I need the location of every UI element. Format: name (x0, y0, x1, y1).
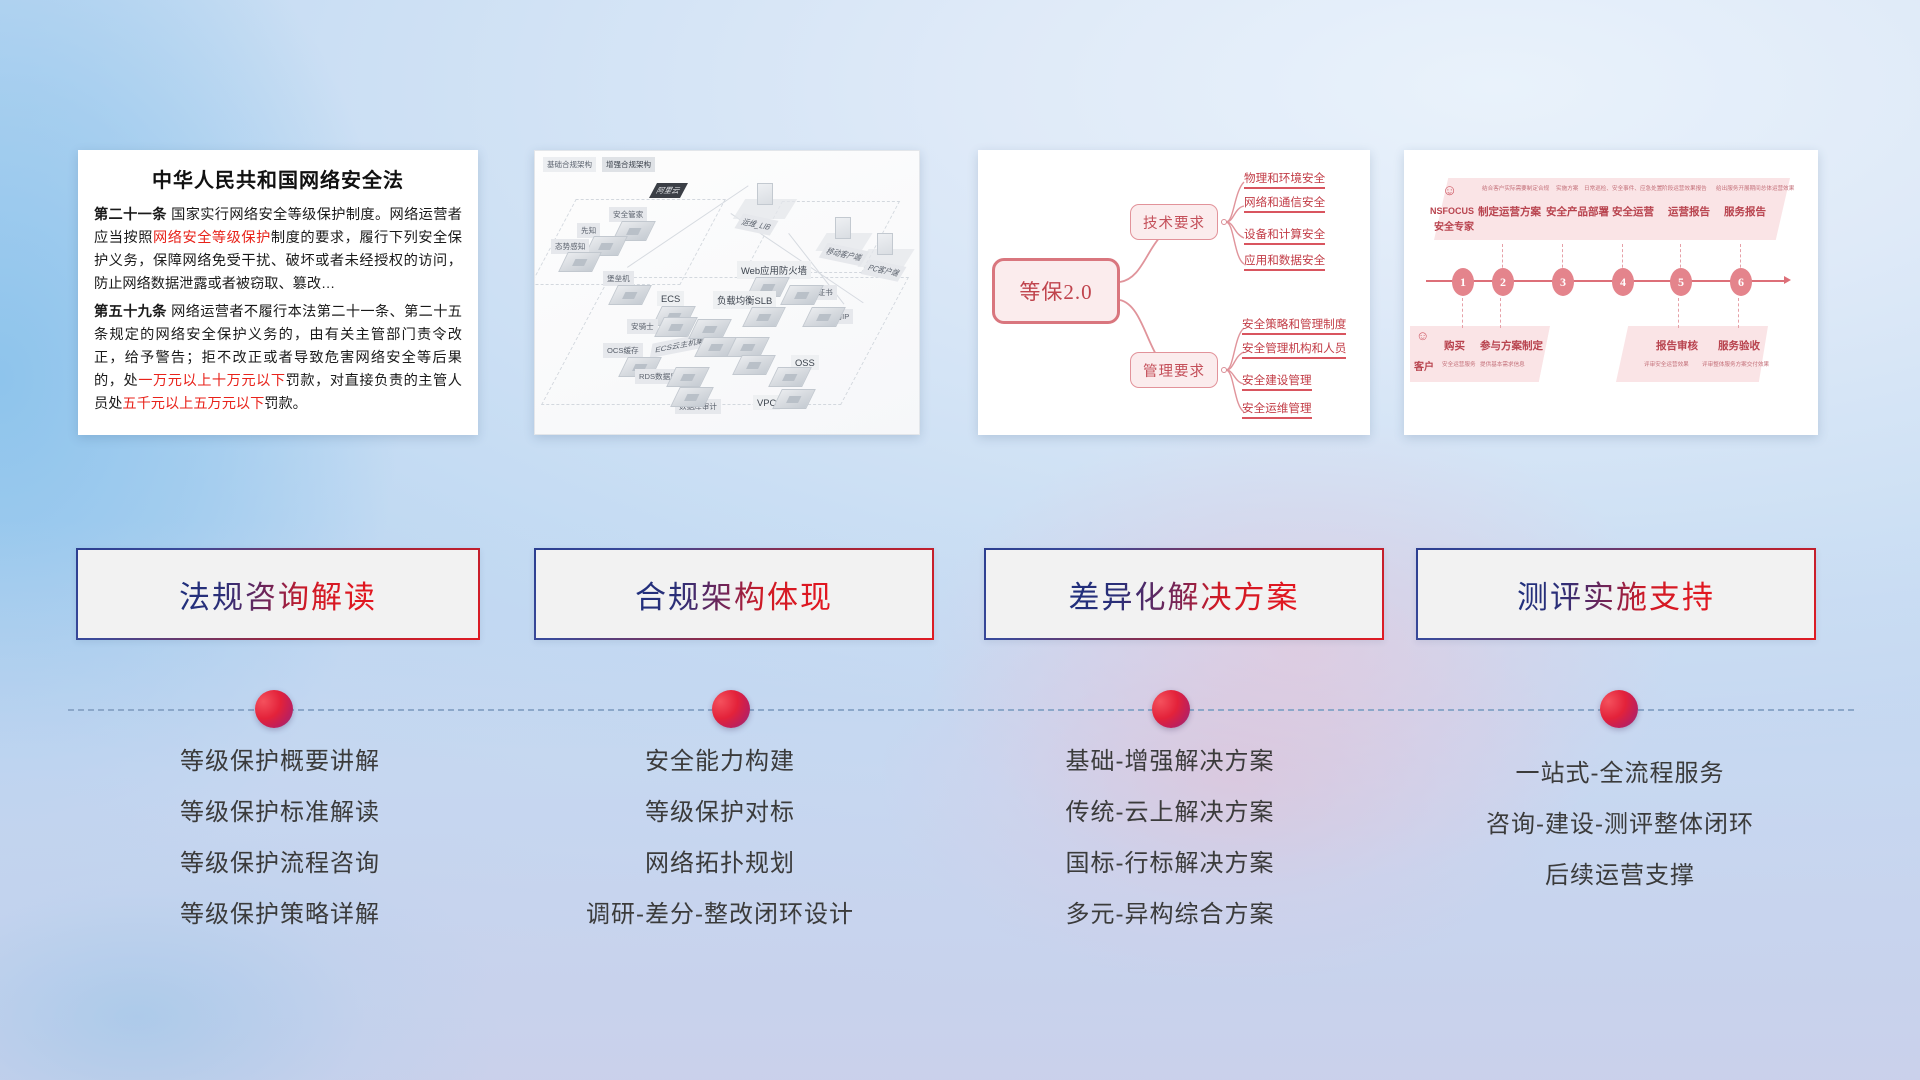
connector-customer-4 (1738, 298, 1739, 328)
list-item: 等级保护流程咨询 (60, 852, 500, 876)
nsfocus-customer-role: 客户 (1414, 358, 1434, 373)
step-5-label: 运营报告 (1668, 204, 1710, 219)
arch-server-pc (877, 233, 893, 255)
list-item: 安全能力构建 (500, 750, 940, 774)
customer-step-2-label: 参与方案制定 (1480, 338, 1543, 353)
mindmap-branch-technical: 技术要求 (1130, 204, 1218, 240)
law-article-59-highlight-2: 五千元以上五万元以下 (122, 396, 264, 412)
law-article-59-highlight-1: 一万元以上十万元以下 (138, 373, 285, 389)
step-2-sub: 结合客户实际需要制定合规 (1482, 184, 1549, 192)
section-items-column-3: 基础-增强解决方案 传统-云上解决方案 国标-行标解决方案 多元-异构综合方案 (950, 750, 1390, 954)
timeline-dashed-line (68, 709, 1854, 711)
timeline-marker-3[interactable] (1152, 690, 1190, 728)
list-item: 基础-增强解决方案 (950, 750, 1390, 774)
connector-customer-2 (1500, 298, 1501, 328)
section-items-row: 等级保护概要讲解 等级保护标准解读 等级保护流程咨询 等级保护策略详解 安全能力… (0, 750, 1920, 980)
timeline-node-6[interactable]: 6 (1730, 268, 1752, 296)
customer-step-4-label: 服务验收 (1718, 338, 1760, 353)
law-card-body: 中华人民共和国网络安全法 第二十一条 国家实行网络安全等级保护制度。网络运营者应… (78, 150, 478, 429)
timeline-node-1[interactable]: 1 (1452, 268, 1474, 296)
section-title-box-3[interactable]: 差异化解决方案 (984, 548, 1384, 640)
customer-step-1-sub: 安全运营服务 (1442, 360, 1476, 368)
section-title-box-2[interactable]: 合规架构体现 (534, 548, 934, 640)
mindmap-leaf-device: 设备和计算安全 (1244, 228, 1325, 245)
arch-node-security-butler: 安全管家 (609, 207, 647, 222)
timeline-node-4[interactable]: 4 (1612, 268, 1634, 296)
list-item: 等级保护对标 (500, 801, 940, 825)
arch-server-mobile (835, 217, 851, 239)
step-4-label: 安全运营 (1612, 204, 1654, 219)
mindmap-leaf-network: 网络和通信安全 (1244, 196, 1325, 213)
customer-step-3-label: 报告审核 (1656, 338, 1698, 353)
mindmap-leaf-physical: 物理和环境安全 (1244, 172, 1325, 189)
nsfocus-timeline-diagram: ☺ NSFOCUS 安全专家 结合客户实际需要制定合规 制定运营方案 实施方案 … (1404, 150, 1818, 435)
timeline-node-3[interactable]: 3 (1552, 268, 1574, 296)
law-card[interactable]: 中华人民共和国网络安全法 第二十一条 国家实行网络安全等级保护制度。网络运营者应… (78, 150, 478, 435)
arch-tab-basic[interactable]: 基础合规架构 (543, 157, 596, 172)
mindmap-leaf-org: 安全管理机构和人员 (1242, 342, 1346, 359)
list-item: 等级保护标准解读 (60, 801, 500, 825)
law-article-21-highlight: 网络安全等级保护 (153, 230, 271, 246)
step-6-label: 服务报告 (1724, 204, 1766, 219)
mindmap-collapse-dot-technical[interactable] (1221, 219, 1227, 225)
nsfocus-customer-banner-left (1410, 326, 1550, 382)
architecture-diagram: 基础合规架构 增强合规架构 阿里云 安全管家 先知 态势感知 (535, 151, 919, 434)
section-items-column-1: 等级保护概要讲解 等级保护标准解读 等级保护流程咨询 等级保护策略详解 (60, 750, 500, 954)
timeline-axis-arrow (1784, 276, 1791, 284)
step-3-label: 安全产品部署 (1546, 204, 1609, 219)
law-card-title: 中华人民共和国网络安全法 (94, 164, 462, 193)
nsfocus-expert-name: NSFOCUS (1430, 206, 1474, 216)
section-items-column-4: 一站式-全流程服务 咨询-建设-测评整体闭环 后续运营支撑 (1400, 750, 1840, 915)
customer-step-3-sub: 评审安全运营效果 (1644, 360, 1689, 368)
list-item: 网络拓扑规划 (500, 852, 940, 876)
law-article-59: 第五十九条 网络运营者不履行本法第二十一条、第二十五条规定的网络安全保护义务的，… (94, 301, 462, 416)
timeline-marker-2[interactable] (712, 690, 750, 728)
expert-person-icon: ☺ (1442, 182, 1457, 199)
arch-node-anqishi: 安骑士 (627, 319, 658, 334)
customer-step-2-sub: 提供基本需求信息 (1480, 360, 1525, 368)
arch-node-ocs: OCS缓存 (603, 343, 643, 358)
law-article-59-text-3: 罚款。 (264, 396, 307, 412)
mindmap-diagram: 等保2.0 技术要求 物理和环境安全 网络和通信安全 设备和计算安全 应用和数据… (978, 150, 1370, 435)
arch-server-ops (757, 183, 773, 205)
thumbnail-card-row: 中华人民共和国网络安全法 第二十一条 国家实行网络安全等级保护制度。网络运营者应… (0, 150, 1920, 450)
step-4-sub: 日常巡检、安全事件、应急处置 (1584, 184, 1662, 192)
list-item: 咨询-建设-测评整体闭环 (1400, 813, 1840, 837)
mindmap-branch-management: 管理要求 (1130, 352, 1218, 388)
mindmap-leaf-app-data: 应用和数据安全 (1244, 254, 1325, 271)
mindmap-leaf-policy: 安全策略和管理制度 (1242, 318, 1346, 335)
step-2-label: 制定运营方案 (1478, 204, 1541, 219)
section-title-1: 法规咨询解读 (179, 572, 377, 617)
nsfocus-service-card[interactable]: ☺ NSFOCUS 安全专家 结合客户实际需要制定合规 制定运营方案 实施方案 … (1404, 150, 1818, 435)
arch-node-aliyun: 阿里云 (649, 183, 688, 198)
list-item: 等级保护策略详解 (60, 903, 500, 927)
mindmap-card[interactable]: 等保2.0 技术要求 物理和环境安全 网络和通信安全 设备和计算安全 应用和数据… (978, 150, 1370, 435)
nsfocus-customer-banner-right (1616, 326, 1768, 382)
timeline-node-2[interactable]: 2 (1492, 268, 1514, 296)
step-3-sub: 实施方案 (1556, 184, 1578, 192)
connector-customer-1 (1462, 298, 1463, 328)
law-article-21: 第二十一条 国家实行网络安全等级保护制度。网络运营者应当按照网络安全等级保护制度… (94, 204, 462, 296)
mindmap-root: 等保2.0 (992, 258, 1120, 324)
mindmap-collapse-dot-management[interactable] (1221, 367, 1227, 373)
arch-node-bastion: 堡垒机 (603, 271, 634, 286)
architecture-tabs: 基础合规架构 增强合规架构 (543, 157, 655, 172)
list-item: 调研-差分-整改闭环设计 (500, 903, 940, 927)
slide-stage: 中华人民共和国网络安全法 第二十一条 国家实行网络安全等级保护制度。网络运营者应… (0, 0, 1920, 1080)
mindmap-leaf-ops: 安全运维管理 (1242, 402, 1312, 419)
section-title-row: 法规咨询解读 合规架构体现 差异化解决方案 测评实施支持 (0, 548, 1920, 640)
mindmap-leaf-build: 安全建设管理 (1242, 374, 1312, 391)
section-title-box-4[interactable]: 测评实施支持 (1416, 548, 1816, 640)
section-title-2: 合规架构体现 (635, 572, 833, 617)
section-title-3: 差异化解决方案 (1069, 572, 1300, 617)
customer-step-4-sub: 评审整体服务方案交付效果 (1702, 360, 1769, 368)
timeline-marker-4[interactable] (1600, 690, 1638, 728)
connector-customer-3 (1678, 298, 1679, 328)
timeline-node-5[interactable]: 5 (1670, 268, 1692, 296)
list-item: 一站式-全流程服务 (1400, 762, 1840, 786)
list-item: 后续运营支撑 (1400, 864, 1840, 888)
architecture-card[interactable]: 基础合规架构 增强合规架构 阿里云 安全管家 先知 态势感知 (534, 150, 920, 435)
section-items-column-2: 安全能力构建 等级保护对标 网络拓扑规划 调研-差分-整改闭环设计 (500, 750, 940, 954)
timeline-marker-1[interactable] (255, 690, 293, 728)
arch-node-ecs: ECS (657, 291, 684, 306)
list-item: 国标-行标解决方案 (950, 852, 1390, 876)
customer-person-icon: ☺ (1416, 328, 1429, 343)
customer-step-1-label: 购买 (1444, 338, 1465, 353)
section-title-box-1[interactable]: 法规咨询解读 (76, 548, 480, 640)
step-5-sub: 阶段运营效果报告 (1662, 184, 1707, 192)
list-item: 等级保护概要讲解 (60, 750, 500, 774)
nsfocus-expert-role: 安全专家 (1434, 218, 1474, 233)
step-6-sub: 给出服务开展期间总体运营效果 (1716, 184, 1794, 192)
law-article-21-label: 第二十一条 (94, 207, 167, 223)
list-item: 传统-云上解决方案 (950, 801, 1390, 825)
timeline-strip (0, 690, 1920, 730)
section-title-4: 测评实施支持 (1517, 572, 1715, 617)
law-article-59-label: 第五十九条 (94, 304, 167, 320)
arch-tab-enhanced[interactable]: 增强合规架构 (602, 157, 655, 172)
list-item: 多元-异构综合方案 (950, 903, 1390, 927)
